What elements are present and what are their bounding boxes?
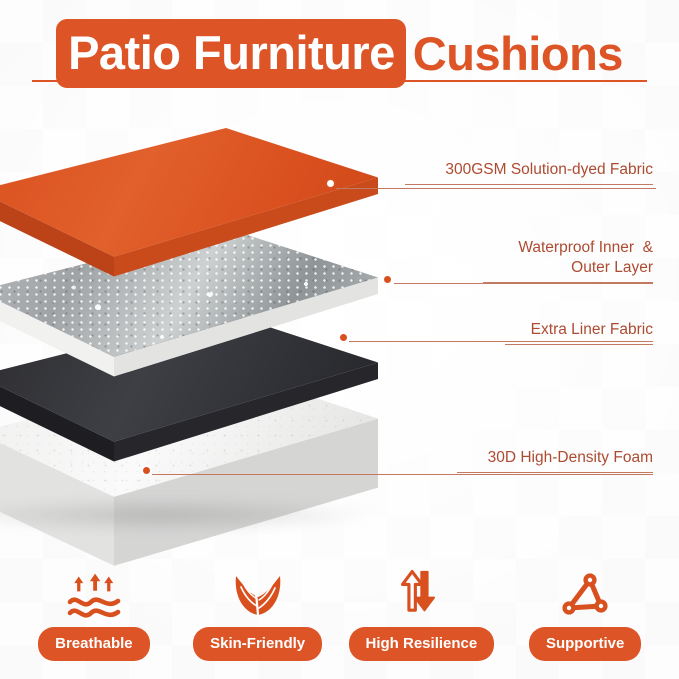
triangle-nodes-icon	[557, 566, 613, 620]
orange-fabric-layer	[0, 128, 378, 293]
title-plain: Cushions	[406, 30, 623, 77]
callout-foam: 30D High-Density Foam	[457, 448, 653, 473]
feature-breathable[interactable]: Breathable	[14, 566, 174, 661]
feature-skin-friendly[interactable]: Skin-Friendly	[178, 566, 338, 661]
callout-foam-label: 30D High-Density Foam	[488, 448, 653, 472]
callout-waterproof-dot[interactable]	[382, 274, 393, 285]
title-highlight: Patio Furniture	[56, 19, 406, 88]
feature-high-resilience[interactable]: High Resilience	[341, 566, 501, 661]
foam-drop-shadow	[0, 498, 374, 532]
callout-liner-dot[interactable]	[338, 332, 349, 343]
callout-waterproof-leader	[394, 283, 653, 284]
callout-waterproof-label: Waterproof Inner & Outer Layer	[518, 238, 653, 282]
callout-fabric: 300GSM Solution-dyed Fabric	[405, 160, 653, 185]
feature-breathable-label[interactable]: Breathable	[38, 627, 150, 661]
page-title: Patio Furniture Cushions	[0, 22, 679, 84]
callout-foam-rule	[457, 472, 653, 473]
callout-foam-dot[interactable]	[141, 465, 152, 476]
feature-high-resilience-label[interactable]: High Resilience	[349, 627, 495, 661]
feature-badge-row: Breathable Skin-Friendly	[0, 551, 679, 661]
feature-skin-friendly-label[interactable]: Skin-Friendly	[193, 627, 322, 661]
title-underline-rule	[32, 80, 647, 82]
arrows-up-over-waves-icon	[66, 566, 122, 620]
up-down-arrows-icon	[393, 566, 449, 620]
callout-waterproof: Waterproof Inner & Outer Layer	[483, 238, 653, 283]
callout-fabric-leader	[336, 188, 656, 189]
feature-supportive[interactable]: Supportive	[505, 566, 665, 661]
feather-icon	[230, 566, 286, 620]
callout-foam-leader	[152, 474, 653, 475]
callout-fabric-label: 300GSM Solution-dyed Fabric	[445, 160, 653, 184]
callout-fabric-dot[interactable]	[325, 178, 336, 189]
infographic-page: Patio Furniture Cushions	[0, 0, 679, 679]
feature-supportive-label[interactable]: Supportive	[529, 627, 641, 661]
callout-fabric-rule	[405, 184, 653, 185]
callout-liner-rule	[505, 344, 653, 345]
callout-liner-leader	[349, 341, 653, 342]
